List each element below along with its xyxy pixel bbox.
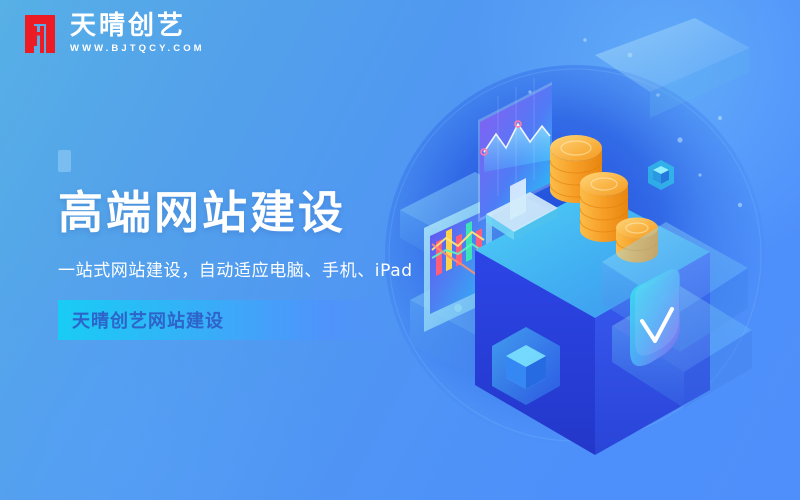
cta-button[interactable]: 天晴创艺网站建设 xyxy=(58,300,388,340)
logo-mark-icon xyxy=(22,12,58,56)
logo-website-url: WWW.BJTQCY.COM xyxy=(70,42,205,56)
accent-chip xyxy=(58,150,71,172)
site-logo[interactable]: 天晴创艺 WWW.BJTQCY.COM xyxy=(22,12,205,56)
page-title: 高端网站建设 xyxy=(58,184,488,242)
logo-company-name: 天晴创艺 xyxy=(70,12,205,40)
hero-copy-block: 高端网站建设 一站式网站建设，自动适应电脑、手机、iPad xyxy=(58,150,488,284)
page-subtitle: 一站式网站建设，自动适应电脑、手机、iPad xyxy=(58,258,488,284)
hero-banner: 天晴创艺 WWW.BJTQCY.COM 高端网站建设 一站式网站建设，自动适应电… xyxy=(0,0,800,500)
cta-button-label: 天晴创艺网站建设 xyxy=(58,307,224,333)
